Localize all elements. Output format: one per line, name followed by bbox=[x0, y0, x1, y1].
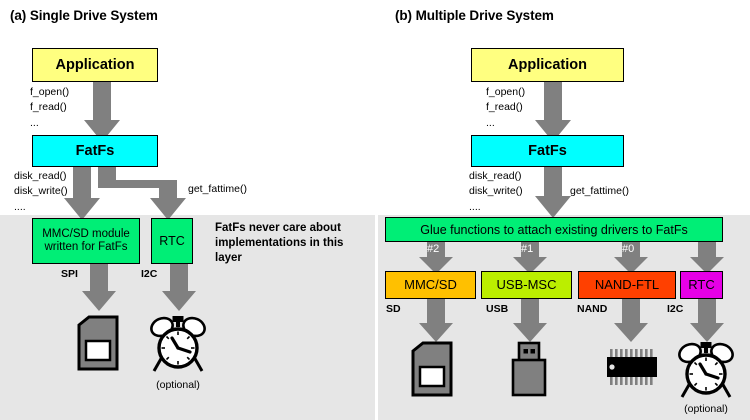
api-label-disk-read-right: disk_read() bbox=[469, 170, 522, 182]
arrow-sd-to-sdcard bbox=[419, 298, 453, 342]
api-label-disk-write-right: disk_write() bbox=[469, 185, 523, 197]
arrow-i2c-to-clock-right bbox=[690, 298, 724, 342]
api-label-ellipsis-fatfs-left: .... bbox=[14, 201, 26, 213]
api-label-disk-read-left: disk_read() bbox=[14, 170, 67, 182]
drive-number-2: #2 bbox=[427, 243, 439, 255]
api-label-ellipsis-app-left: ... bbox=[30, 117, 39, 129]
api-label-ellipsis-app-right: ... bbox=[486, 117, 495, 129]
api-label-ellipsis-fatfs-right: .... bbox=[469, 201, 481, 213]
mmcsd-module-line-2: written for FatFs bbox=[44, 241, 127, 254]
optional-label-right: (optional) bbox=[674, 403, 738, 415]
bus-label-nand-right: NAND bbox=[577, 303, 607, 315]
box-application-right[interactable]: Application bbox=[471, 48, 624, 82]
usb-drive-icon bbox=[505, 341, 553, 397]
api-label-get-fattime-right: get_fattime() bbox=[570, 185, 629, 197]
mmcsd-module-line-1: MMC/SD module bbox=[42, 228, 130, 241]
arrow-glue-to-rtc bbox=[690, 241, 724, 274]
arrow-fatfs-to-rtc-left bbox=[98, 166, 186, 220]
box-fatfs-left[interactable]: FatFs bbox=[32, 135, 158, 167]
arrow-fatfs-to-mmcsd-left bbox=[64, 166, 100, 220]
panel-title-multiple-drive: (b) Multiple Drive System bbox=[395, 8, 554, 23]
drive-number-0: #0 bbox=[622, 243, 634, 255]
box-glue-functions[interactable]: Glue functions to attach existing driver… bbox=[385, 217, 723, 242]
bus-label-sd-right: SD bbox=[386, 303, 401, 315]
box-driver-mmcsd[interactable]: MMC/SD bbox=[385, 271, 476, 299]
arrow-app-to-fatfs-left bbox=[84, 80, 120, 142]
box-rtc-left[interactable]: RTC bbox=[151, 218, 193, 264]
arrow-fatfs-to-glue-right bbox=[535, 166, 571, 218]
api-label-f-read-right: f_read() bbox=[486, 101, 523, 113]
arrow-i2c-to-clock-left bbox=[162, 263, 196, 311]
diagram-canvas: (a) Single Drive System (b) Multiple Dri… bbox=[0, 0, 750, 420]
note-implementation-layer: FatFs never care about implementations i… bbox=[215, 221, 355, 267]
box-driver-usbmsc[interactable]: USB-MSC bbox=[481, 271, 572, 299]
panel-title-single-drive: (a) Single Drive System bbox=[10, 8, 158, 23]
bus-label-i2c-left: I2C bbox=[141, 268, 157, 280]
box-driver-nandftl[interactable]: NAND-FTL bbox=[578, 271, 676, 299]
box-fatfs-right[interactable]: FatFs bbox=[471, 135, 624, 167]
arrow-nand-to-chip bbox=[614, 298, 648, 342]
bus-label-spi-left: SPI bbox=[61, 268, 78, 280]
box-application-left[interactable]: Application bbox=[32, 48, 158, 82]
sd-card-icon-left bbox=[77, 315, 119, 371]
box-mmcsd-module-left[interactable]: MMC/SD module written for FatFs bbox=[32, 218, 140, 264]
arrow-app-to-fatfs-right bbox=[535, 80, 571, 142]
api-label-disk-write-left: disk_write() bbox=[14, 185, 68, 197]
api-label-f-read-left: f_read() bbox=[30, 101, 67, 113]
optional-label-left: (optional) bbox=[146, 379, 210, 391]
arrow-usb-to-usbdrive bbox=[513, 298, 547, 342]
sd-card-icon-right bbox=[411, 341, 453, 397]
bus-label-usb-right: USB bbox=[486, 303, 508, 315]
api-label-f-open-right: f_open() bbox=[486, 86, 525, 98]
api-label-f-open-left: f_open() bbox=[30, 86, 69, 98]
bus-label-i2c-right: I2C bbox=[667, 303, 683, 315]
arrow-spi-to-sdcard-left bbox=[82, 263, 116, 311]
api-label-get-fattime-left: get_fattime() bbox=[188, 183, 247, 195]
box-driver-rtc[interactable]: RTC bbox=[680, 271, 723, 299]
nand-chip-icon bbox=[604, 347, 660, 387]
alarm-clock-icon-right bbox=[678, 339, 734, 401]
alarm-clock-icon-left bbox=[150, 313, 206, 375]
drive-number-1: #1 bbox=[521, 243, 533, 255]
